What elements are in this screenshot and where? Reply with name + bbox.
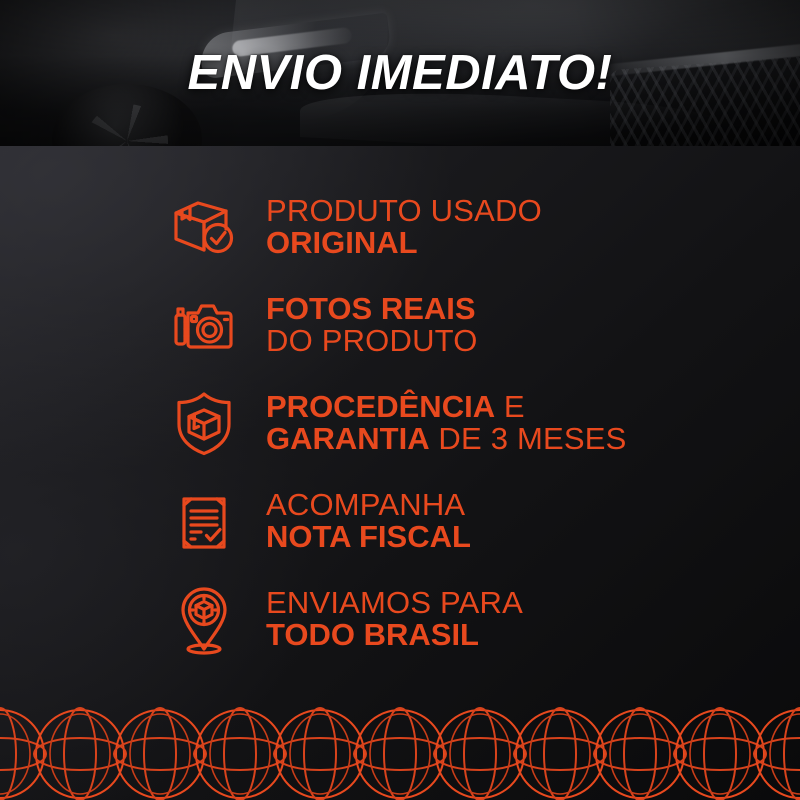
feature-text: FOTOS REAIS DO PRODUTO — [266, 293, 478, 357]
feature-line-2-bold: GARANTIA — [266, 421, 430, 456]
feature-line-1: PRODUTO USADO — [266, 195, 542, 227]
feature-line-1: ACOMPANHA — [266, 489, 471, 521]
feature-line-1: PROCEDÊNCIA E — [266, 391, 626, 423]
feature-item-nota-fiscal: ACOMPANHA NOTA FISCAL — [0, 472, 800, 570]
feature-text: ACOMPANHA NOTA FISCAL — [266, 489, 471, 553]
feature-line-1: ENVIAMOS PARA — [266, 587, 523, 619]
geometric-circle-lattice-border — [0, 692, 800, 800]
feature-line-1: FOTOS REAIS — [266, 293, 478, 325]
feature-item-todo-brasil: ENVIAMOS PARA TODO BRASIL — [0, 570, 800, 668]
page-title: ENVIO IMEDIATO! — [0, 0, 800, 146]
banner-body: PRODUTO USADO ORIGINAL — [0, 146, 800, 800]
feature-item-produto-original: PRODUTO USADO ORIGINAL — [0, 178, 800, 276]
feature-text: ENVIAMOS PARA TODO BRASIL — [266, 587, 523, 651]
promo-banner: ENVIO IMEDIATO! — [0, 0, 800, 800]
feature-item-procedencia-garantia: PROCEDÊNCIA E GARANTIA DE 3 MESES — [0, 374, 800, 472]
package-check-icon — [168, 191, 240, 263]
feature-line-2-light: DE 3 MESES — [430, 421, 627, 456]
feature-line-1-light: E — [495, 389, 525, 424]
location-pin-cube-icon — [168, 583, 240, 655]
banner-header: ENVIO IMEDIATO! — [0, 0, 800, 146]
feature-list: PRODUTO USADO ORIGINAL — [0, 178, 800, 668]
feature-line-2: TODO BRASIL — [266, 619, 523, 651]
feature-line-2: GARANTIA DE 3 MESES — [266, 423, 626, 455]
feature-line-2: ORIGINAL — [266, 227, 542, 259]
shield-package-icon — [168, 387, 240, 459]
feature-text: PRODUTO USADO ORIGINAL — [266, 195, 542, 259]
feature-item-fotos-reais: FOTOS REAIS DO PRODUTO — [0, 276, 800, 374]
feature-line-1-bold: PROCEDÊNCIA — [266, 389, 495, 424]
feature-line-2: DO PRODUTO — [266, 325, 478, 357]
invoice-check-icon — [168, 485, 240, 557]
camera-icon — [168, 289, 240, 361]
feature-text: PROCEDÊNCIA E GARANTIA DE 3 MESES — [266, 391, 626, 455]
feature-line-2: NOTA FISCAL — [266, 521, 471, 553]
